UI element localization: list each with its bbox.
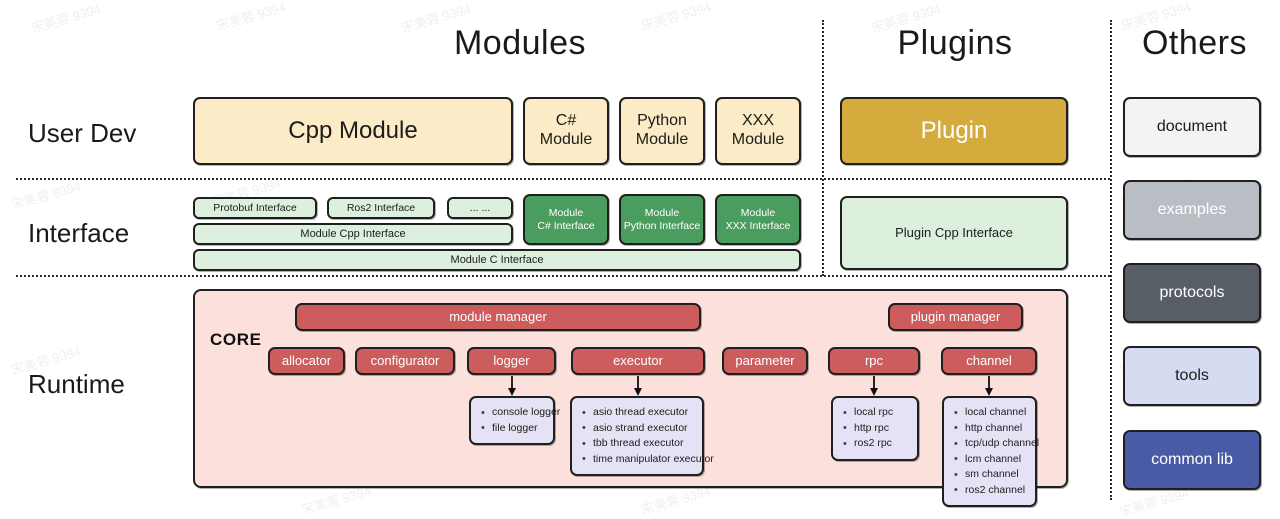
list-item: local rpc: [842, 405, 909, 421]
list-item: ros2 channel: [953, 483, 1027, 499]
interface-box-module-xxx[interactable]: Module XXX Interface: [715, 194, 801, 245]
runtime-box-allocator[interactable]: allocator: [268, 347, 345, 375]
separator-plugins-others: [1110, 20, 1112, 500]
interface-box-ellipsis[interactable]: ... ...: [447, 197, 513, 219]
row-label-user-dev: User Dev: [28, 118, 136, 149]
list-item: tcp/udp channel: [953, 436, 1027, 452]
rpc-items: local rpchttp rpcros2 rpc: [842, 405, 909, 452]
list-item: local channel: [953, 405, 1027, 421]
runtime-box-rpc[interactable]: rpc: [828, 347, 920, 375]
interface-box-module-cpp[interactable]: Module Cpp Interface: [193, 223, 513, 245]
separator-user-dev-interface: [16, 178, 1110, 180]
list-item: tbb thread executor: [581, 436, 694, 452]
list-item: time manipulator executor: [581, 452, 694, 468]
runtime-box-plugin-manager[interactable]: plugin manager: [888, 303, 1023, 331]
list-item: lcm channel: [953, 452, 1027, 468]
watermark: 宋美蓉 9394: [29, 0, 103, 36]
arrow-channel: [982, 376, 996, 397]
watermark: 宋美蓉 9394: [9, 176, 83, 214]
arrow-logger: [505, 376, 519, 397]
module-box-cpp[interactable]: Cpp Module: [193, 97, 513, 165]
list-item: asio thread executor: [581, 405, 694, 421]
separator-modules-plugins: [822, 20, 824, 276]
watermark: 宋美蓉 9394: [214, 0, 288, 34]
channel-items: local channelhttp channeltcp/udp channel…: [953, 405, 1027, 498]
detail-list-executor: asio thread executorasio strand executor…: [570, 396, 704, 476]
arrow-rpc: [867, 376, 881, 397]
arrow-executor: [631, 376, 645, 397]
architecture-diagram: 宋美蓉 9394 宋美蓉 9394 宋美蓉 9394 宋美蓉 9394 宋美蓉 …: [0, 0, 1280, 519]
separator-interface-runtime: [16, 275, 1110, 277]
module-box-xxx[interactable]: XXX Module: [715, 97, 801, 165]
runtime-box-logger[interactable]: logger: [467, 347, 556, 375]
runtime-box-module-manager[interactable]: module manager: [295, 303, 701, 331]
list-item: asio strand executor: [581, 421, 694, 437]
executor-items: asio thread executorasio strand executor…: [581, 405, 694, 467]
module-box-csharp[interactable]: C# Module: [523, 97, 609, 165]
interface-box-module-c[interactable]: Module C Interface: [193, 249, 801, 271]
interface-box-module-csharp[interactable]: Module C# Interface: [523, 194, 609, 245]
runtime-box-parameter[interactable]: parameter: [722, 347, 808, 375]
detail-list-channel: local channelhttp channeltcp/udp channel…: [942, 396, 1037, 507]
others-box-document[interactable]: document: [1123, 97, 1261, 157]
module-box-python[interactable]: Python Module: [619, 97, 705, 165]
others-box-protocols[interactable]: protocols: [1123, 263, 1261, 323]
column-title-others: Others: [1112, 24, 1277, 63]
interface-box-ros2[interactable]: Ros2 Interface: [327, 197, 435, 219]
list-item: ros2 rpc: [842, 436, 909, 452]
others-box-examples[interactable]: examples: [1123, 180, 1261, 240]
list-item: http rpc: [842, 421, 909, 437]
list-item: console logger: [480, 405, 545, 421]
runtime-box-executor[interactable]: executor: [571, 347, 705, 375]
row-label-interface: Interface: [28, 218, 129, 249]
column-title-plugins: Plugins: [825, 24, 1085, 63]
plugin-box[interactable]: Plugin: [840, 97, 1068, 165]
list-item: file logger: [480, 421, 545, 437]
row-label-runtime: Runtime: [28, 369, 125, 400]
others-box-common-lib[interactable]: common lib: [1123, 430, 1261, 490]
interface-box-module-python[interactable]: Module Python Interface: [619, 194, 705, 245]
runtime-box-channel[interactable]: channel: [941, 347, 1037, 375]
list-item: http channel: [953, 421, 1027, 437]
column-title-modules: Modules: [390, 24, 650, 63]
interface-box-plugin-cpp[interactable]: Plugin Cpp Interface: [840, 196, 1068, 270]
detail-list-rpc: local rpchttp rpcros2 rpc: [831, 396, 919, 461]
list-item: sm channel: [953, 467, 1027, 483]
runtime-box-configurator[interactable]: configurator: [355, 347, 455, 375]
detail-list-logger: console loggerfile logger: [469, 396, 555, 445]
interface-box-protobuf[interactable]: Protobuf Interface: [193, 197, 317, 219]
others-box-tools[interactable]: tools: [1123, 346, 1261, 406]
core-label: CORE: [210, 330, 262, 350]
logger-items: console loggerfile logger: [480, 405, 545, 436]
